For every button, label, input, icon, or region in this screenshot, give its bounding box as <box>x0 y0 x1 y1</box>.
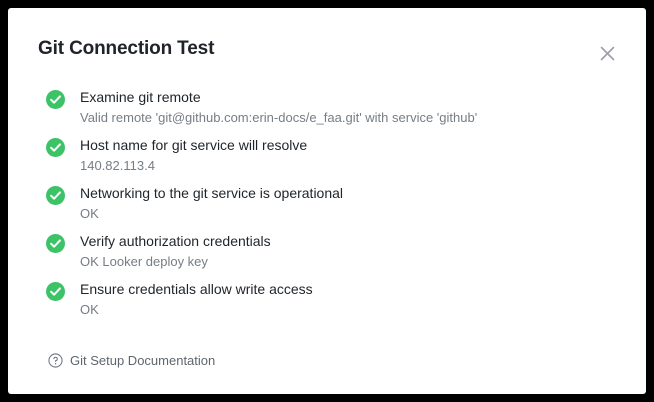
check-circle-icon <box>46 90 65 109</box>
check-row: Verify authorization credentials OK Look… <box>8 232 646 280</box>
check-circle-icon <box>46 138 65 157</box>
check-texts: Examine git remote Valid remote 'git@git… <box>80 88 622 126</box>
check-detail: 140.82.113.4 <box>80 157 622 174</box>
check-row: Networking to the git service is operati… <box>8 184 646 232</box>
check-texts: Ensure credentials allow write access OK <box>80 280 622 318</box>
check-circle-icon <box>46 186 65 205</box>
check-texts: Verify authorization credentials OK Look… <box>80 232 622 270</box>
close-button[interactable] <box>594 40 620 66</box>
git-connection-test-dialog: Git Connection Test Examine git remote V… <box>8 8 646 394</box>
help-circle-icon <box>48 353 63 368</box>
check-detail: OK <box>80 205 622 222</box>
check-texts: Networking to the git service is operati… <box>80 184 622 222</box>
check-detail: Valid remote 'git@github.com:erin-docs/e… <box>80 109 622 126</box>
dialog-header: Git Connection Test <box>8 8 646 70</box>
check-label: Examine git remote <box>80 88 622 106</box>
check-label: Verify authorization credentials <box>80 232 622 250</box>
check-detail: OK Looker deploy key <box>80 253 622 270</box>
check-label: Networking to the git service is operati… <box>80 184 622 202</box>
check-row: Host name for git service will resolve 1… <box>8 136 646 184</box>
check-label: Host name for git service will resolve <box>80 136 622 154</box>
check-list: Examine git remote Valid remote 'git@git… <box>8 88 646 328</box>
check-circle-icon <box>46 234 65 253</box>
page-title: Git Connection Test <box>38 38 214 60</box>
doc-link-label: Git Setup Documentation <box>70 353 215 368</box>
check-row: Ensure credentials allow write access OK <box>8 280 646 328</box>
close-icon <box>600 46 615 61</box>
check-circle-icon <box>46 282 65 301</box>
check-texts: Host name for git service will resolve 1… <box>80 136 622 174</box>
check-row: Examine git remote Valid remote 'git@git… <box>8 88 646 136</box>
git-setup-documentation-link[interactable]: Git Setup Documentation <box>48 353 215 368</box>
dialog-footer: Git Setup Documentation <box>8 332 646 394</box>
check-label: Ensure credentials allow write access <box>80 280 622 298</box>
check-detail: OK <box>80 301 622 318</box>
